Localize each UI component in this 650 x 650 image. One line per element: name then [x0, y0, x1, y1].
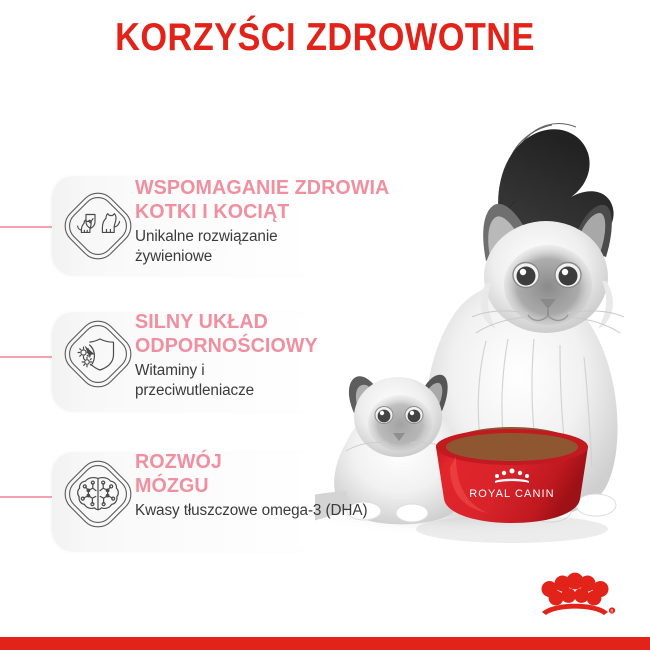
benefit-subtext-2: Witaminy i przeciwutleniacze [135, 361, 555, 402]
benefit-heading-3: ROZWÓJ MÓZGU [135, 450, 538, 498]
brain-icon [62, 458, 134, 530]
connector-line-1 [0, 226, 53, 228]
benefit-heading-2: SILNY UKŁAD ODPORNOŚCIOWY [135, 310, 538, 358]
benefit-text-3: ROZWÓJ MÓZGU Kwasy tłuszczowe omega-3 (D… [135, 450, 555, 521]
benefit-heading-1: WSPOMAGANIE ZDROWIA KOTKI I KOCIĄT [135, 176, 538, 224]
benefit-subtext-1: Unikalne rozwiązanie żywieniowe [135, 227, 555, 268]
connector-line-3 [0, 496, 53, 498]
trademark-symbol: R [611, 608, 614, 613]
connector-line-2 [0, 356, 53, 358]
royal-canin-crown-logo: R [527, 568, 623, 620]
shield-germ-defense-icon [62, 318, 134, 390]
bottom-accent-bar [0, 637, 650, 650]
benefit-subtext-3: Kwasy tłuszczowe omega-3 (DHA) [135, 501, 555, 521]
page-title: KORZYŚCI ZDROWOTNE [39, 18, 611, 59]
promo-banner: KORZYŚCI ZDROWOTNE [0, 0, 650, 650]
benefit-text-1: WSPOMAGANIE ZDROWIA KOTKI I KOCIĄT Unika… [135, 176, 555, 268]
benefit-text-2: SILNY UKŁAD ODPORNOŚCIOWY Witaminy i prz… [135, 310, 555, 402]
cat-and-kitten-shield-icon [62, 190, 134, 262]
